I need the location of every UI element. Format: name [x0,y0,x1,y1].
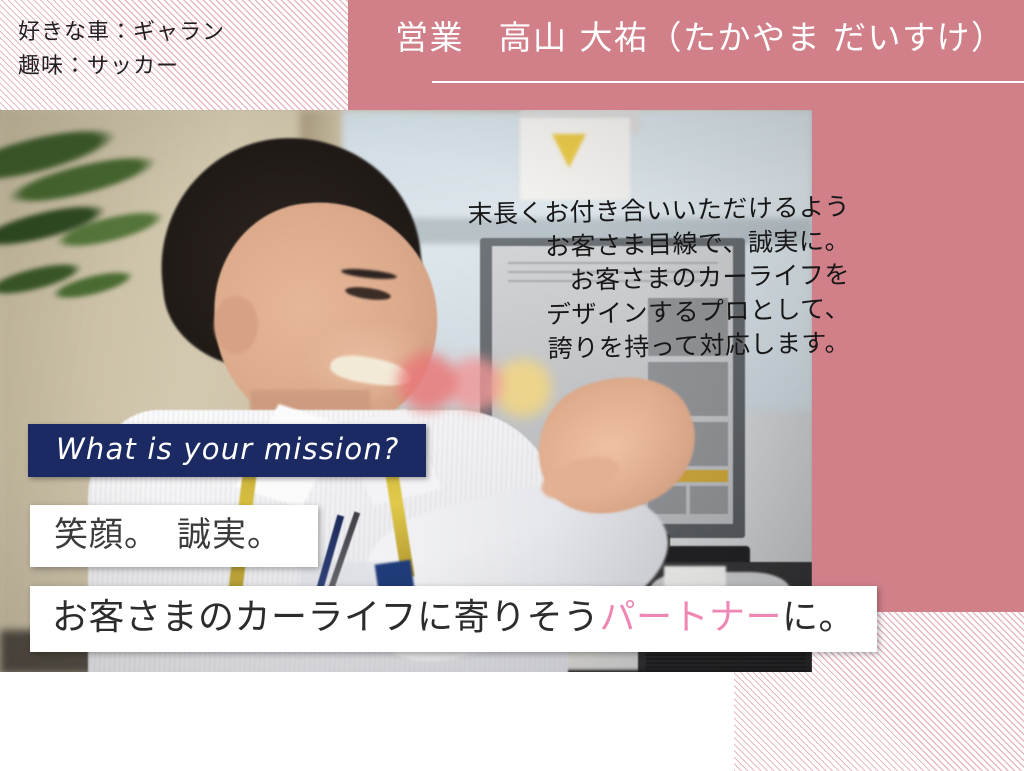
mission-question-label: What is your mission? [56,432,400,466]
mission-question-box: What is your mission? [28,424,426,477]
mission-answer-box-1: 笑顔。 誠実。 [30,505,318,567]
staff-name-heading: 営業 高山 大祐（たかやま だいすけ） [395,15,1005,61]
answer-text-before: お客さまのカーライフに寄りそう [52,597,600,638]
fact-hobby: 趣味：サッカー [18,50,338,84]
mission-answer-text-1: 笑顔。 誠実。 [54,515,282,555]
answer-text-after: に。 [782,597,855,638]
page-footer: 地域と共に生きる KMG HOLDINGS 地域の定番でありたい。 [0,672,1024,771]
personal-facts: 好きな車：ギャラン 趣味：サッカー [18,16,338,84]
mission-answer-text-2: お客さまのカーライフに寄りそうパートナーに。 [52,597,855,638]
page-header: 好きな車：ギャラン 趣味：サッカー 営業 高山 大祐（たかやま だいすけ） [0,0,1024,110]
fact-favorite-car: 好きな車：ギャラン [18,16,338,50]
profile-page: 好きな車：ギャラン 趣味：サッカー 営業 高山 大祐（たかやま だいすけ） [0,0,1024,771]
header-divider-rule [432,81,1024,83]
handwritten-message: 末長くお付き合いいただけるよう お客さま目線で、誠実に。 お客さまのカーライフを… [380,190,850,360]
mission-answer-box-2: お客さまのカーライフに寄りそうパートナーに。 [30,586,877,652]
answer-text-accent: パートナー [600,597,783,638]
